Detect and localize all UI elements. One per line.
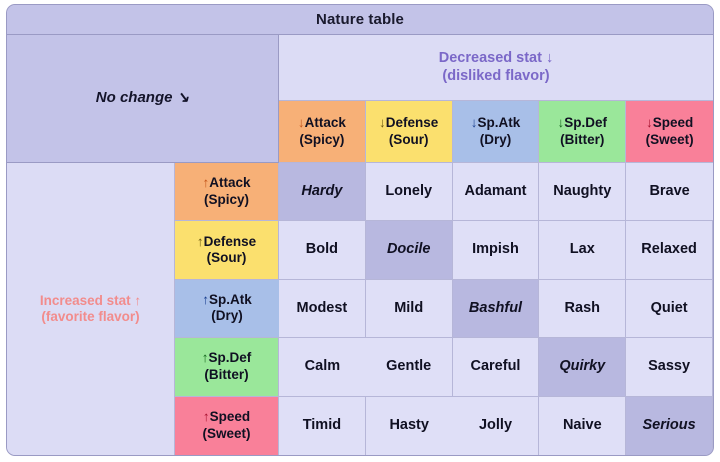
nature-name: Brave: [649, 183, 689, 201]
row-header-speed[interactable]: ↑Speed(Sweet): [175, 397, 279, 455]
arrow-down-icon: ↓: [298, 115, 305, 130]
nature-cell: Modest: [279, 280, 366, 338]
stat-name: Defense: [386, 115, 439, 130]
flavor-label: (Sour): [207, 250, 247, 266]
decreased-stat-line-1: Decreased stat ↓: [439, 50, 553, 68]
column-header-spatk[interactable]: ↓Sp.Atk(Dry): [453, 101, 540, 163]
nature-name: Timid: [303, 417, 341, 435]
nature-cell: Sassy: [626, 338, 713, 396]
increased-stat-banner: Increased stat ↑(favorite flavor): [7, 163, 175, 455]
nature-name: Serious: [643, 417, 696, 435]
stat-name: Speed: [653, 115, 694, 130]
nature-name: Rash: [565, 300, 600, 318]
nature-cell: Calm: [279, 338, 366, 396]
no-change-corner: No change ↘: [7, 35, 279, 163]
arrow-up-icon: ↑: [202, 292, 209, 307]
nature-cell: Impish: [453, 221, 540, 279]
arrow-down-icon: ↓: [646, 115, 653, 130]
nature-name: Quirky: [559, 358, 605, 376]
increased-stat-line-1: Increased stat ↑: [40, 293, 141, 309]
flavor-label: (Spicy): [204, 192, 249, 208]
nature-grid: No change ↘Decreased stat ↓(disliked fla…: [7, 35, 713, 455]
nature-name: Hardy: [301, 183, 342, 201]
arrow-up-icon: ↑: [203, 409, 210, 424]
stat-name: Sp.Def: [208, 350, 251, 365]
nature-name: Lonely: [385, 183, 432, 201]
column-header-attack[interactable]: ↓Attack(Spicy): [279, 101, 366, 163]
stat-label: ↓Defense: [379, 115, 438, 131]
nature-cell: Timid: [279, 397, 366, 455]
nature-name: Adamant: [464, 183, 526, 201]
stat-name: Defense: [204, 234, 257, 249]
nature-name: Hasty: [389, 417, 429, 435]
stat-label: ↓Attack: [298, 115, 346, 131]
nature-name: Quiet: [651, 300, 688, 318]
nature-name: Jolly: [479, 417, 512, 435]
decreased-stat-banner: Decreased stat ↓(disliked flavor): [279, 35, 713, 101]
flavor-label: (Bitter): [204, 367, 248, 383]
stat-name: Attack: [305, 115, 346, 130]
nature-name: Docile: [387, 241, 431, 259]
nature-name: Bold: [306, 241, 338, 259]
stat-label: ↓Sp.Def: [558, 115, 608, 131]
nature-cell: Naive: [539, 397, 626, 455]
stat-name: Sp.Atk: [209, 292, 252, 307]
stat-label: ↓Speed: [646, 115, 693, 131]
nature-cell: Quiet: [626, 280, 713, 338]
flavor-label: (Dry): [480, 132, 512, 148]
nature-name: Careful: [471, 358, 521, 376]
column-header-spdef[interactable]: ↓Sp.Def(Bitter): [539, 101, 626, 163]
flavor-label: (Sour): [389, 132, 429, 148]
nature-cell: Hasty: [366, 397, 453, 455]
nature-cell: Hardy: [279, 163, 366, 221]
nature-name: Relaxed: [641, 241, 697, 259]
decreased-stat-line-2: (disliked flavor): [442, 68, 549, 86]
stat-label: ↑Speed: [203, 409, 250, 425]
nature-cell: Jolly: [453, 397, 540, 455]
nature-cell: Brave: [626, 163, 713, 221]
page-title: Nature table: [316, 11, 404, 28]
no-change-label: No change ↘: [96, 89, 189, 107]
stat-label: ↑Defense: [197, 234, 256, 250]
nature-name: Calm: [305, 358, 340, 376]
column-header-speed[interactable]: ↓Speed(Sweet): [626, 101, 713, 163]
nature-table-container: Nature table No change ↘Decreased stat ↓…: [0, 0, 720, 462]
nature-cell: Relaxed: [626, 221, 713, 279]
nature-cell: Naughty: [539, 163, 626, 221]
stat-label: ↓Sp.Atk: [471, 115, 521, 131]
nature-name: Modest: [297, 300, 348, 318]
nature-name: Sassy: [648, 358, 690, 376]
nature-cell: Quirky: [539, 338, 626, 396]
stat-label: ↑Sp.Def: [202, 350, 252, 366]
nature-cell: Lax: [539, 221, 626, 279]
nature-name: Gentle: [386, 358, 431, 376]
nature-name: Lax: [570, 241, 595, 259]
nature-cell: Lonely: [366, 163, 453, 221]
stat-name: Sp.Atk: [477, 115, 520, 130]
arrow-up-icon: ↑: [197, 234, 204, 249]
nature-cell: Adamant: [453, 163, 540, 221]
stat-name: Speed: [210, 409, 251, 424]
stat-name: Sp.Def: [564, 115, 607, 130]
nature-table: Nature table No change ↘Decreased stat ↓…: [6, 4, 714, 456]
nature-cell: Rash: [539, 280, 626, 338]
nature-cell: Bold: [279, 221, 366, 279]
column-header-defense[interactable]: ↓Defense(Sour): [366, 101, 453, 163]
flavor-label: (Dry): [211, 308, 243, 324]
nature-cell: Docile: [366, 221, 453, 279]
nature-cell: Mild: [366, 280, 453, 338]
row-header-attack[interactable]: ↑Attack(Spicy): [175, 163, 279, 221]
flavor-label: (Sweet): [646, 132, 694, 148]
flavor-label: (Sweet): [202, 426, 250, 442]
row-header-defense[interactable]: ↑Defense(Sour): [175, 221, 279, 279]
row-header-spdef[interactable]: ↑Sp.Def(Bitter): [175, 338, 279, 396]
flavor-label: (Spicy): [299, 132, 344, 148]
stat-label: ↑Sp.Atk: [202, 292, 252, 308]
nature-name: Naughty: [553, 183, 611, 201]
stat-label: ↑Attack: [202, 175, 250, 191]
nature-name: Mild: [394, 300, 423, 318]
nature-name: Naive: [563, 417, 602, 435]
flavor-label: (Bitter): [560, 132, 604, 148]
increased-stat-line-2: (favorite flavor): [41, 309, 139, 325]
arrow-down-icon: ↓: [379, 115, 386, 130]
row-header-spatk[interactable]: ↑Sp.Atk(Dry): [175, 280, 279, 338]
nature-cell: Careful: [453, 338, 540, 396]
table-title-bar: Nature table: [7, 5, 713, 35]
nature-name: Impish: [472, 241, 519, 259]
nature-name: Bashful: [469, 300, 522, 318]
nature-cell: Gentle: [366, 338, 453, 396]
stat-name: Attack: [209, 175, 250, 190]
nature-cell: Serious: [626, 397, 713, 455]
nature-cell: Bashful: [453, 280, 540, 338]
